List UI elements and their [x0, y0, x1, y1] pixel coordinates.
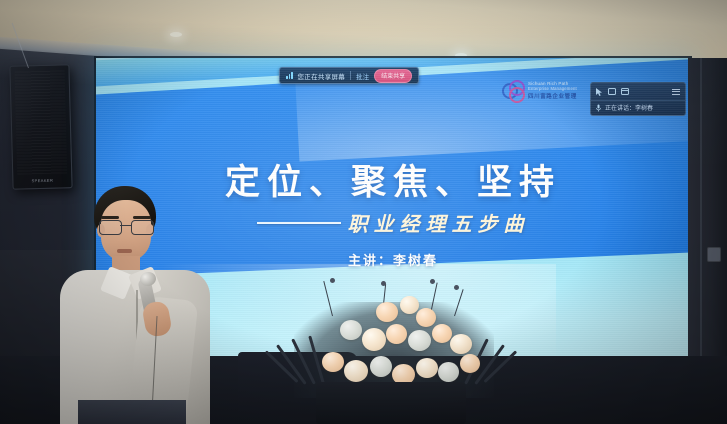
slide-logo: Sichuan Rich Path Enterprise Management … — [502, 80, 577, 100]
flower-vase — [316, 382, 466, 424]
logo-english-line-1: Sichuan Rich Path — [528, 81, 577, 86]
speaker-grille — [15, 70, 68, 174]
window-icon[interactable] — [608, 88, 616, 95]
logo-english-line-2: Enterprise Management — [528, 86, 577, 91]
signal-bars-icon — [286, 72, 293, 79]
toolbar-divider — [350, 71, 351, 80]
microphone-icon[interactable] — [596, 104, 601, 112]
wall-socket-upper — [707, 247, 721, 262]
downlight-1 — [170, 32, 182, 37]
layout-icon[interactable] — [621, 88, 629, 95]
floral-arrangement — [288, 278, 502, 424]
glasses-icon — [98, 220, 154, 233]
screenshot-root: SPEAKER Sichuan Rich Path Enterprise Man… — [0, 0, 727, 424]
more-menu-icon[interactable] — [672, 89, 680, 95]
wall-speaker: SPEAKER — [9, 64, 72, 190]
presenter-person — [60, 186, 210, 424]
annotate-icon[interactable]: 批注 — [356, 71, 369, 81]
person-trousers — [78, 400, 186, 424]
speaker-badge-label: SPEAKER — [31, 178, 53, 184]
share-toolbar[interactable]: 您正在共享屏幕 批注 结束共享 — [279, 67, 419, 84]
slide-subtitle: 职业经理五步曲 — [348, 208, 530, 237]
person-brow-left — [101, 216, 119, 219]
person-brow-right — [133, 216, 151, 219]
speaking-now-label: 正在讲话：李树春 — [605, 103, 653, 112]
person-mouth — [117, 249, 132, 253]
end-share-button[interactable]: 结束共享 — [374, 69, 412, 83]
pointer-icon[interactable] — [596, 88, 603, 96]
meeting-control-bar[interactable]: 正在讲话：李树春 — [590, 82, 686, 116]
subtitle-rule — [257, 222, 341, 224]
share-status-text: 您正在共享屏幕 — [298, 71, 346, 81]
logo-chinese-name: 四川富路企业管理 — [528, 92, 577, 100]
interlocking-rings-logo-icon — [502, 80, 524, 100]
